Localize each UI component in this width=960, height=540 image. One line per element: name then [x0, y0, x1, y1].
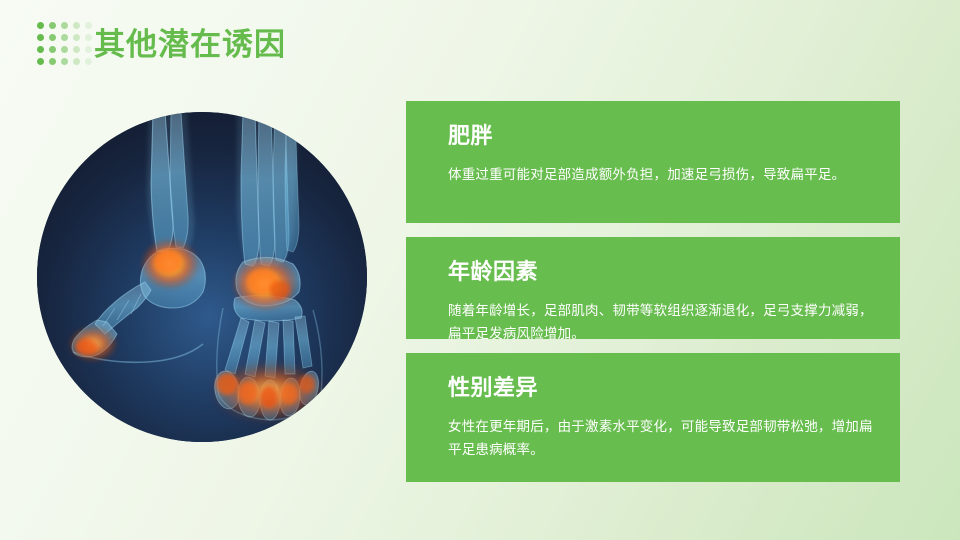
dot [49, 58, 56, 65]
dot [49, 22, 56, 29]
card-title: 年龄因素 [448, 257, 874, 287]
card-body: 女性在更年期后，由于激素水平变化，可能导致足部韧带松弛，增加扁平足患病概率。 [448, 415, 874, 461]
card-body: 体重过重可能对足部造成额外负担，加速足弓损伤，导致扁平足。 [448, 163, 874, 186]
card-title: 性别差异 [448, 373, 874, 403]
cause-card-age[interactable]: 年龄因素 随着年龄增长，足部肌肉、韧带等软组织逐渐退化，足弓支撑力减弱，扁平足发… [406, 237, 900, 339]
dot-grid-decoration [37, 22, 93, 66]
feet-xray-image [37, 112, 367, 442]
dot [61, 46, 68, 53]
slide: 其他潜在诱因 [0, 0, 960, 540]
dot [49, 34, 56, 41]
dot [61, 34, 68, 41]
page-title: 其他潜在诱因 [94, 24, 286, 66]
dot [61, 22, 68, 29]
dot [37, 58, 44, 65]
card-body: 随着年龄增长，足部肌肉、韧带等软组织逐渐退化，足弓支撑力减弱，扁平足发病风险增加… [448, 299, 874, 345]
card-title: 肥胖 [448, 121, 874, 151]
dot [37, 34, 44, 41]
slide-header: 其他潜在诱因 [0, 0, 960, 88]
dot [85, 34, 92, 41]
dot [73, 34, 80, 41]
dot [61, 58, 68, 65]
dot [37, 22, 44, 29]
dot [73, 58, 80, 65]
dot [73, 22, 80, 29]
cause-card-list: 肥胖 体重过重可能对足部造成额外负担，加速足弓损伤，导致扁平足。 年龄因素 随着… [406, 101, 900, 482]
dot [85, 22, 92, 29]
dot [49, 46, 56, 53]
cause-card-gender[interactable]: 性别差异 女性在更年期后，由于激素水平变化，可能导致足部韧带松弛，增加扁平足患病… [406, 353, 900, 482]
dot [85, 58, 92, 65]
dot [37, 46, 44, 53]
dot [73, 46, 80, 53]
cause-card-obesity[interactable]: 肥胖 体重过重可能对足部造成额外负担，加速足弓损伤，导致扁平足。 [406, 101, 900, 223]
dot [85, 46, 92, 53]
